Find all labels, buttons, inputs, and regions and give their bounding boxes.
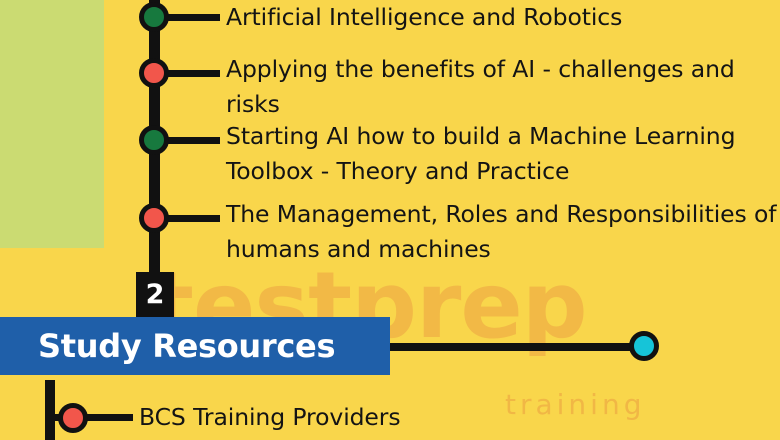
connector-stem-3 — [160, 137, 220, 144]
connector-stem-4 — [160, 215, 220, 222]
node-topic-1[interactable] — [139, 2, 169, 32]
node-section-right[interactable] — [629, 331, 659, 361]
topic-item-4-label: The Management, Roles and Responsibiliti… — [226, 197, 778, 267]
section-item-1-label: BCS Training Providers — [139, 400, 539, 435]
section-banner[interactable]: Study Resources — [0, 317, 390, 375]
node-section-item-1[interactable] — [58, 403, 88, 433]
background-green-panel — [0, 0, 104, 213]
topic-item-3-label: Starting AI how to build a Machine Learn… — [226, 119, 771, 189]
node-topic-3[interactable] — [139, 125, 169, 155]
connector-stem-2 — [160, 70, 220, 77]
background-green-panel-lower — [0, 213, 104, 248]
section-banner-arm — [390, 343, 643, 351]
topic-item-2-label: Applying the benefits of AI - challenges… — [226, 52, 754, 122]
section-title: Study Resources — [38, 327, 335, 365]
node-topic-2[interactable] — [139, 58, 169, 88]
topic-item-1-label: Artificial Intelligence and Robotics — [226, 0, 766, 35]
connector-stem-1 — [160, 14, 220, 21]
node-topic-4[interactable] — [139, 203, 169, 233]
section-number-badge: 2 — [136, 272, 174, 317]
timeline-spine-lower — [45, 380, 55, 440]
infographic-canvas: testprep training Artificial Intelligenc… — [0, 0, 780, 440]
